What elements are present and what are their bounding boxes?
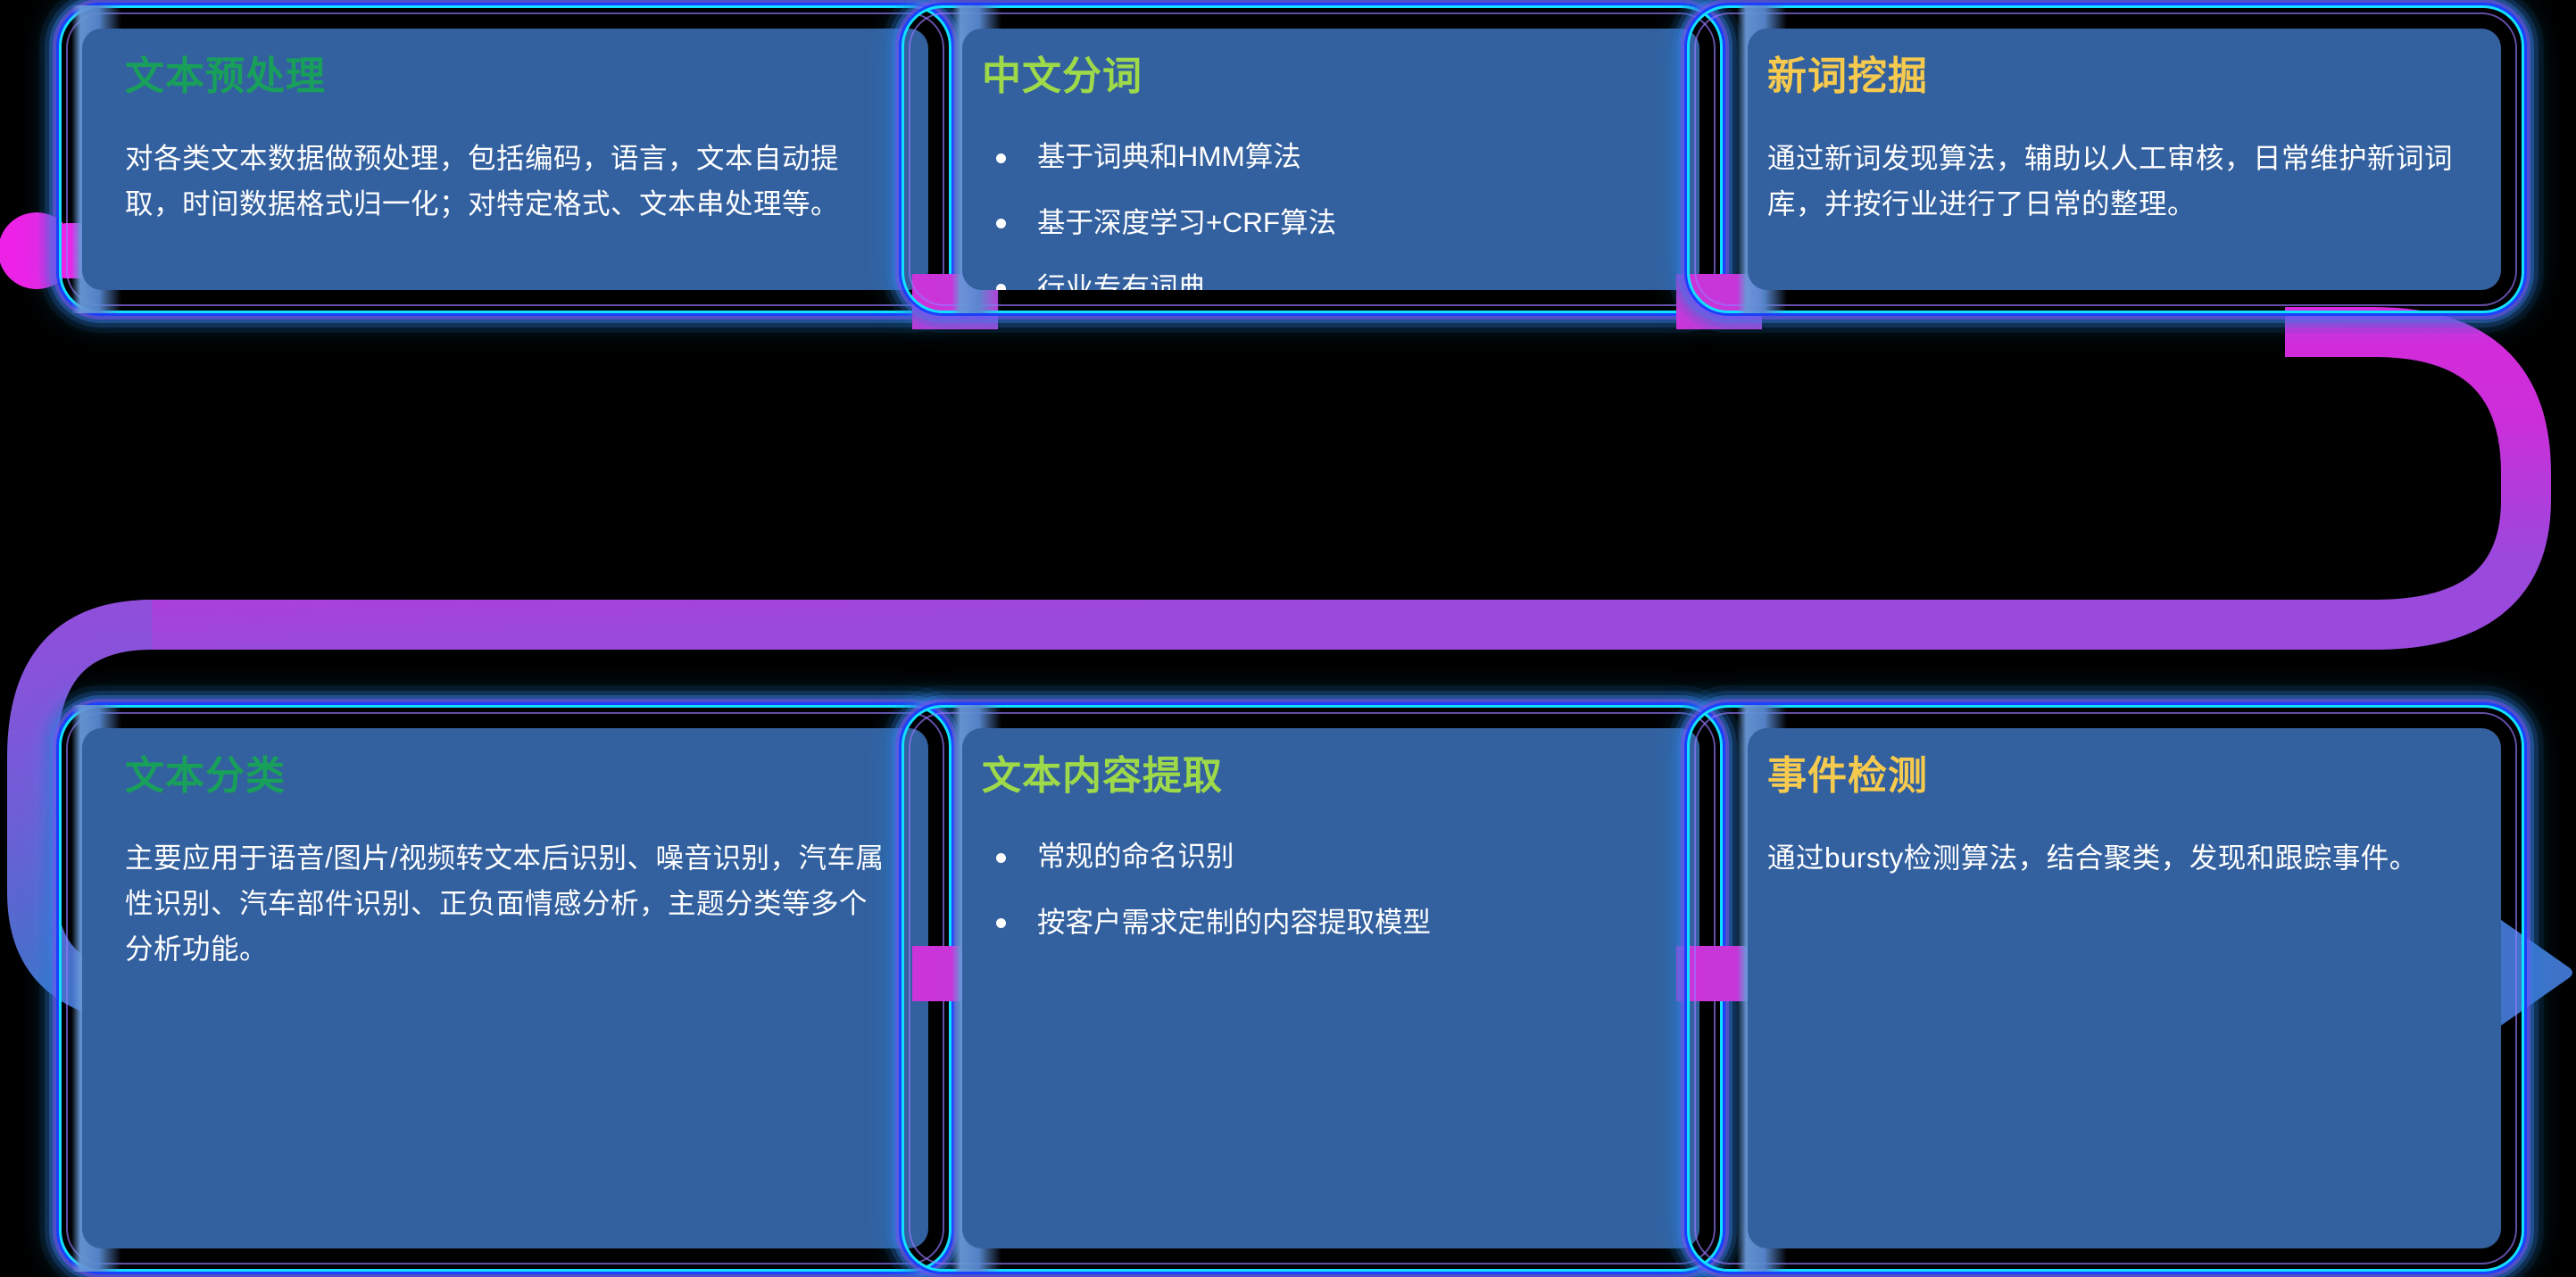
card-title: 文本内容提取 — [982, 755, 1666, 798]
list-item-label: 按客户需求定制的内容提取模型 — [1037, 906, 1431, 938]
list-item: 基于深度学习+CRF算法 — [982, 202, 1666, 244]
card-bullet-list: 常规的命名识别 按客户需求定制的内容提取模型 — [982, 835, 1666, 943]
bullet-dot-icon — [996, 853, 1006, 863]
list-item-label: 基于词典和HMM算法 — [1037, 140, 1301, 172]
list-item: 常规的命名识别 — [982, 835, 1666, 877]
card-text-classification[interactable]: 文本分类 主要应用于语音/图片/视频转文本后识别、噪音识别，汽车属性识别、汽车部… — [59, 705, 951, 1272]
card-title: 事件检测 — [1767, 755, 2467, 798]
card-text-preprocessing[interactable]: 文本预处理 对各类文本数据做预处理，包括编码，语言，文本自动提取，时间数据格式归… — [59, 5, 951, 313]
list-item-label: 常规的命名识别 — [1037, 840, 1234, 872]
card-panel: 文本分类 主要应用于语音/图片/视频转文本后识别、噪音识别，汽车属性识别、汽车部… — [82, 728, 928, 1248]
card-event-detection[interactable]: 事件检测 通过bursty检测算法，结合聚类，发现和跟踪事件。 — [1687, 705, 2524, 1272]
list-item-label: 基于深度学习+CRF算法 — [1037, 206, 1336, 238]
card-paragraph: 通过新词发现算法，辅助以人工审核，日常维护新词词库，并按行业进行了日常的整理。 — [1767, 136, 2467, 227]
card-bullet-list: 基于词典和HMM算法 基于深度学习+CRF算法 行业专有词典 — [982, 136, 1666, 290]
card-paragraph: 通过bursty检测算法，结合聚类，发现和跟踪事件。 — [1767, 835, 2467, 881]
card-title: 文本分类 — [125, 755, 894, 798]
list-item-label: 行业专有词典 — [1037, 271, 1206, 290]
card-paragraph: 对各类文本数据做预处理，包括编码，语言，文本自动提取，时间数据格式归一化；对特定… — [125, 136, 894, 227]
card-panel: 文本预处理 对各类文本数据做预处理，包括编码，语言，文本自动提取，时间数据格式归… — [82, 29, 928, 290]
card-chinese-word-segmentation[interactable]: 中文分词 基于词典和HMM算法 基于深度学习+CRF算法 行业专有词典 — [902, 5, 1723, 313]
card-panel: 中文分词 基于词典和HMM算法 基于深度学习+CRF算法 行业专有词典 — [962, 29, 1699, 290]
card-panel: 新词挖掘 通过新词发现算法，辅助以人工审核，日常维护新词词库，并按行业进行了日常… — [1748, 29, 2501, 290]
card-panel: 文本内容提取 常规的命名识别 按客户需求定制的内容提取模型 — [962, 728, 1699, 1248]
list-item: 行业专有词典 — [982, 267, 1666, 290]
card-new-word-discovery[interactable]: 新词挖掘 通过新词发现算法，辅助以人工审核，日常维护新词词库，并按行业进行了日常… — [1687, 5, 2524, 313]
connector-top-to-bottom-right — [143, 332, 2526, 625]
card-title: 中文分词 — [982, 55, 1666, 98]
card-paragraph: 主要应用于语音/图片/视频转文本后识别、噪音识别，汽车属性识别、汽车部件识别、正… — [125, 835, 894, 972]
card-text-content-extraction[interactable]: 文本内容提取 常规的命名识别 按客户需求定制的内容提取模型 — [902, 705, 1723, 1272]
list-item: 基于词典和HMM算法 — [982, 136, 1666, 178]
bullet-dot-icon — [996, 918, 1006, 928]
bullet-dot-icon — [996, 153, 1006, 163]
card-title: 文本预处理 — [125, 55, 894, 98]
card-panel: 事件检测 通过bursty检测算法，结合聚类，发现和跟踪事件。 — [1748, 728, 2501, 1248]
bullet-dot-icon — [996, 219, 1006, 228]
bullet-dot-icon — [996, 284, 1006, 290]
diagram-canvas: 文本预处理 对各类文本数据做预处理，包括编码，语言，文本自动提取，时间数据格式归… — [0, 0, 2576, 1277]
list-item: 按客户需求定制的内容提取模型 — [982, 901, 1666, 943]
card-title: 新词挖掘 — [1767, 55, 2467, 98]
